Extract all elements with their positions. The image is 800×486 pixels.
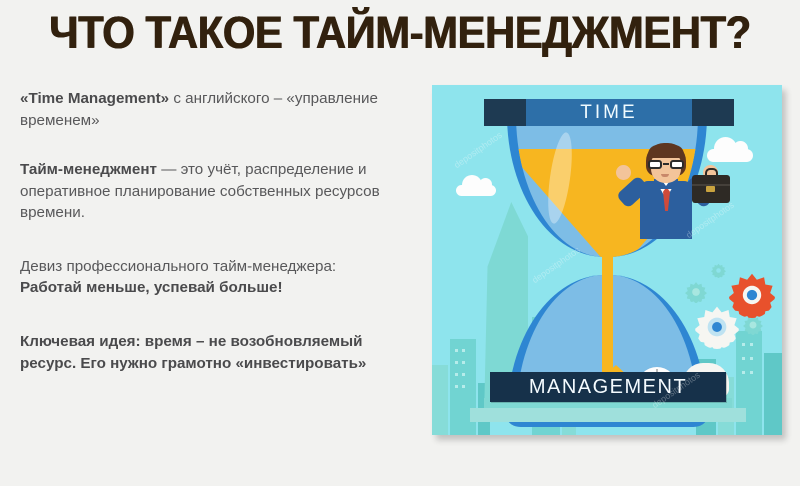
banner-time-cap-left [484,99,526,126]
term-taim-menedzhment: Тайм-менеджмент [20,161,157,178]
cloud-icon [456,185,496,196]
paragraph-definition-main: Тайм-менеджмент — это учёт, распределени… [20,159,420,224]
key-idea-text: Ключевая идея: время – не возобновляемый… [20,333,366,372]
paragraph-key-idea: Ключевая идея: время – не возобновляемый… [20,331,420,374]
banner-time-label: TIME [580,102,637,124]
term-time-management: «Time Management» [20,90,169,107]
banner-time-cap-right [692,99,734,126]
page-title: ЧТО ТАКОЕ ТАЙМ-МЕНЕДЖМЕНТ? [28,8,772,58]
businessman-figure [610,143,728,239]
paragraph-definition-translation: «Time Management» с английского – «управ… [20,88,420,131]
raised-fist [616,165,631,180]
hair-fringe [648,145,684,158]
time-management-illustration: TIME MANAGEMENT depositphotos depositpho… [432,85,782,435]
gear-icon-teal [743,315,763,335]
motto-phrase: Работай меньше, успевай больше! [20,279,283,296]
briefcase-lock [706,186,715,192]
banner-management: MANAGEMENT [490,372,726,402]
banner-time-panel: TIME [526,99,692,126]
gear-icon-small-teal [711,263,726,278]
glasses-icon [648,160,684,169]
gear-icon-teal [685,281,707,303]
building [432,365,448,435]
banner-time: TIME [484,99,734,126]
text-column: «Time Management» с английского – «управ… [20,88,420,374]
banner-management-label: MANAGEMENT [529,376,687,399]
gear-icon-white [695,305,739,349]
motto-intro: Девиз профессионального тайм-менеджера: [20,258,336,275]
building [764,353,782,435]
gear-icon-orange [729,272,775,318]
paragraph-motto: Девиз профессионального тайм-менеджера: … [20,256,420,299]
